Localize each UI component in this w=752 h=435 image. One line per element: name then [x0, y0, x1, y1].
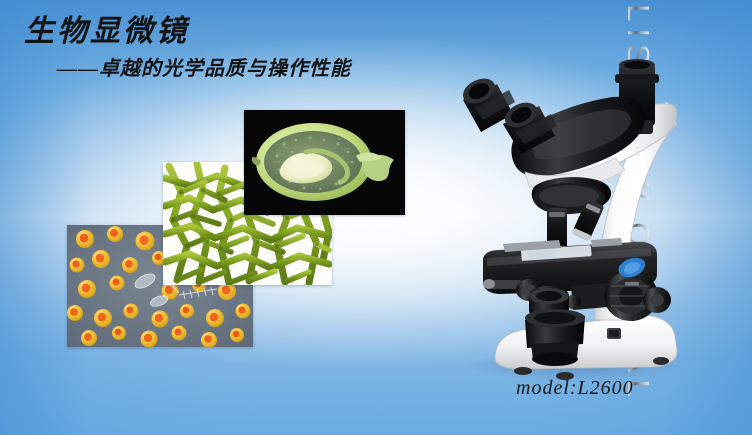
gallery-photo-seed-section[interactable] [244, 110, 405, 215]
microscope-illustration [425, 28, 700, 388]
page-title: 生物显微镜 [24, 6, 189, 50]
product-banner: 生物显微镜 ——卓越的光学品质与操作性能 LISSVIEW OPTICAL [0, 0, 752, 435]
microscope-image[interactable] [425, 28, 700, 388]
seed-cross-section-photo [244, 110, 405, 215]
page-subtitle: ——卓越的光学品质与操作性能 [57, 52, 351, 81]
